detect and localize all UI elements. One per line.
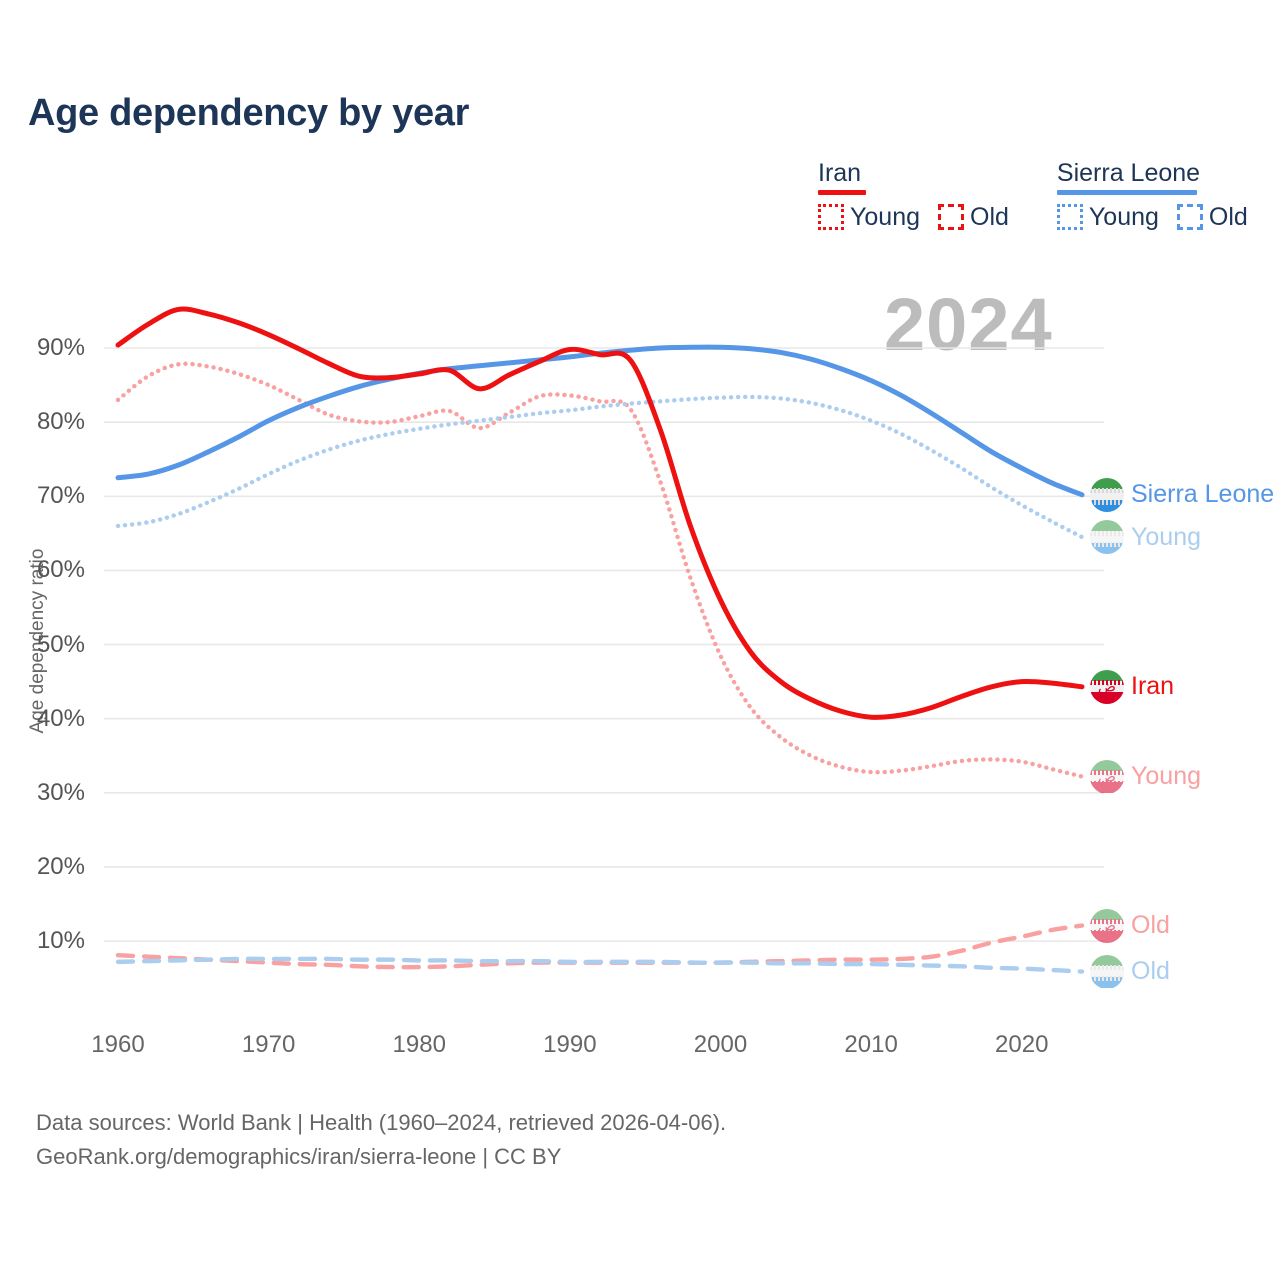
footer: Data sources: World Bank | Health (1960–… [36,1106,726,1174]
series-end-label[interactable]: ضOld [1090,909,1170,943]
series-end-label-text: Sierra Leone [1131,482,1274,507]
sierra-leone-flag-icon [1090,520,1124,554]
series-end-label[interactable]: Old [1090,955,1170,989]
x-tick-label: 2020 [995,1031,1048,1059]
series-line [118,347,1082,495]
y-tick-label: 30% [37,779,85,807]
series-end-label[interactable]: ضYoung [1090,760,1201,794]
y-tick-label: 10% [37,927,85,955]
y-tick-label: 50% [37,631,85,659]
series-end-label-text: Young [1131,764,1201,789]
series-end-label[interactable]: Sierra Leone [1090,478,1274,512]
plot-svg [0,0,1280,1280]
series-line [118,309,1082,717]
sierra-leone-flag-icon [1090,955,1124,989]
x-tick-label: 1980 [393,1031,446,1059]
series-end-label-text: Old [1131,913,1170,938]
x-tick-label: 2000 [694,1031,747,1059]
plot-area: Age dependency ratio 90%80%70%60%50%40%3… [0,0,1280,1280]
y-tick-label: 20% [37,853,85,881]
x-tick-label: 1990 [543,1031,596,1059]
iran-flag-icon: ض [1090,670,1124,704]
chart-page: Age dependency by year Iran Young Old Si… [0,0,1280,1280]
sierra-leone-flag-icon [1090,478,1124,512]
y-tick-label: 90% [37,334,85,362]
iran-flag-icon: ض [1090,909,1124,943]
series-end-label-text: Iran [1131,674,1174,699]
footer-line-attribution: GeoRank.org/demographics/iran/sierra-leo… [36,1140,726,1174]
y-tick-label: 60% [37,556,85,584]
y-tick-label: 70% [37,482,85,510]
x-tick-label: 2010 [844,1031,897,1059]
series-end-label-text: Young [1131,525,1201,550]
y-tick-label: 80% [37,408,85,436]
iran-flag-icon: ض [1090,760,1124,794]
footer-line-sources: Data sources: World Bank | Health (1960–… [36,1106,726,1140]
series-end-label-text: Old [1131,959,1170,984]
y-tick-label: 40% [37,705,85,733]
series-end-label[interactable]: Young [1090,520,1201,554]
series-end-label[interactable]: ضIran [1090,670,1174,704]
series-line [118,959,1082,972]
x-tick-label: 1970 [242,1031,295,1059]
x-tick-label: 1960 [91,1031,144,1059]
